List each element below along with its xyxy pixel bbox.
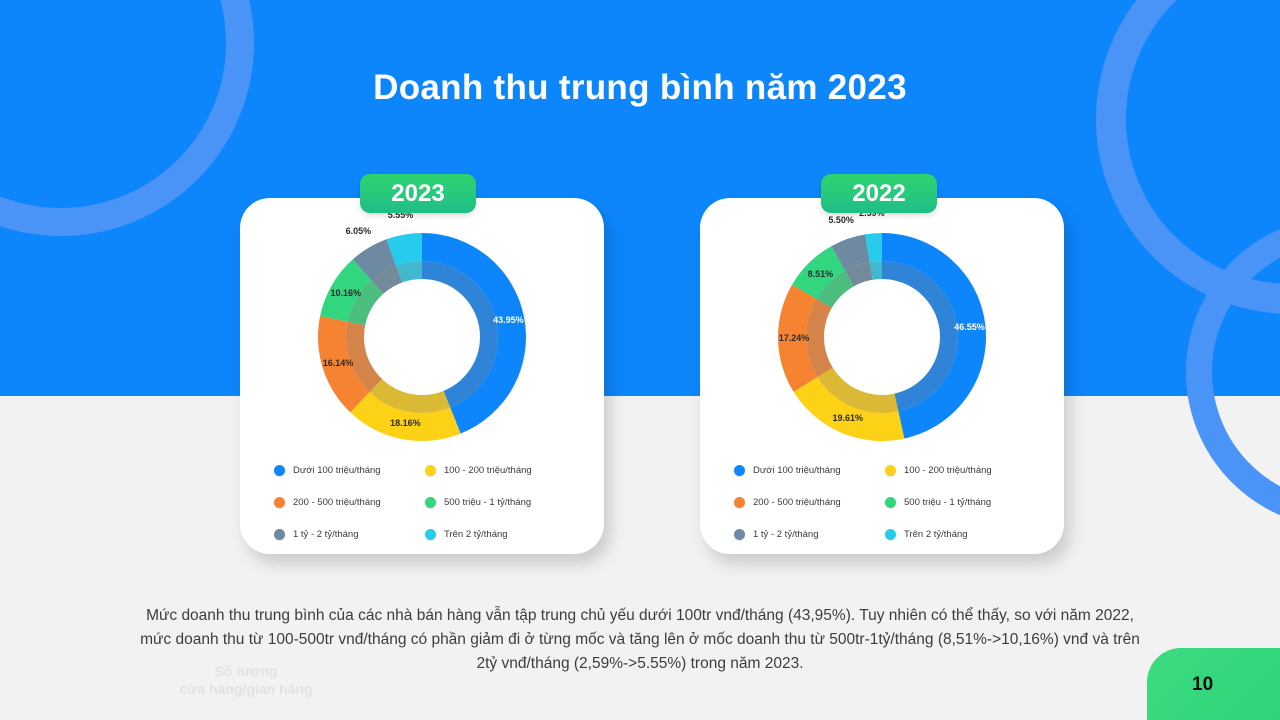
legend-color-dot <box>274 529 285 540</box>
legend-item-label: 500 triệu - 1 tỷ/tháng <box>904 497 991 508</box>
legend-item[interactable]: Trên 2 tỷ/tháng <box>885 518 1030 550</box>
legend-item-label: Trên 2 tỷ/tháng <box>444 529 508 540</box>
donut-slice-label: 6.05% <box>346 226 372 236</box>
legend-item-label: Dưới 100 triệu/tháng <box>753 465 841 476</box>
donut-slice-label: 19.61% <box>833 413 864 423</box>
legend-color-dot <box>274 465 285 476</box>
donut-slice-label: 8.51% <box>808 269 834 279</box>
legend-item-label: 100 - 200 triệu/tháng <box>444 465 532 476</box>
donut-slice-label: 5.50% <box>828 215 854 225</box>
legend-color-dot <box>425 465 436 476</box>
legend-color-dot <box>734 529 745 540</box>
page-number-shape <box>1147 648 1280 720</box>
chart-card-2022: 46.55%19.61%17.24%8.51%5.50%2.59% Dưới 1… <box>700 198 1064 554</box>
watermark-line-2: cửa hàng/gian hàng <box>146 680 346 698</box>
donut-graphic-2023: 43.95%18.16%16.14%10.16%6.05%5.55% <box>314 229 530 445</box>
legend-color-dot <box>885 465 896 476</box>
donut-svg <box>314 229 530 445</box>
donut-slice-label: 10.16% <box>330 288 361 298</box>
page-number: 10 <box>1192 674 1213 696</box>
legend-item[interactable]: 200 - 500 triệu/tháng <box>734 486 879 518</box>
legend-color-dot <box>734 497 745 508</box>
legend-color-dot <box>734 465 745 476</box>
legend-item-label: 500 triệu - 1 tỷ/tháng <box>444 497 531 508</box>
legend-color-dot <box>425 497 436 508</box>
legend-item[interactable]: Trên 2 tỷ/tháng <box>425 518 570 550</box>
legend-color-dot <box>885 529 896 540</box>
legend-item[interactable]: 500 triệu - 1 tỷ/tháng <box>425 486 570 518</box>
legend-color-dot <box>425 529 436 540</box>
legend-item[interactable]: 200 - 500 triệu/tháng <box>274 486 419 518</box>
legend-item-label: Dưới 100 triệu/tháng <box>293 465 381 476</box>
year-badge-2022: 2022 <box>821 174 937 213</box>
legend-item-label: 200 - 500 triệu/tháng <box>293 497 381 508</box>
donut-slice-label: 18.16% <box>390 418 421 428</box>
legend-item-label: 1 tỷ - 2 tỷ/tháng <box>753 529 818 540</box>
watermark-line-1: Số lượng <box>146 662 346 680</box>
page-title: Doanh thu trung bình năm 2023 <box>0 68 1280 108</box>
donut-chart-2022: 46.55%19.61%17.24%8.51%5.50%2.59% <box>700 212 1064 462</box>
year-badge-2023: 2023 <box>360 174 476 213</box>
legend-item-label: 1 tỷ - 2 tỷ/tháng <box>293 529 358 540</box>
legend-item-label: 200 - 500 triệu/tháng <box>753 497 841 508</box>
donut-graphic-2022: 46.55%19.61%17.24%8.51%5.50%2.59% <box>774 229 990 445</box>
donut-slice-label: 46.55% <box>954 322 985 332</box>
legend-item[interactable]: 100 - 200 triệu/tháng <box>885 454 1030 486</box>
legend-color-dot <box>274 497 285 508</box>
legend-item[interactable]: 500 triệu - 1 tỷ/tháng <box>885 486 1030 518</box>
blue-background-band <box>0 0 1280 396</box>
legend-item[interactable]: 1 tỷ - 2 tỷ/tháng <box>734 518 879 550</box>
legend-item[interactable]: Dưới 100 triệu/tháng <box>734 454 879 486</box>
donut-chart-2023: 43.95%18.16%16.14%10.16%6.05%5.55% <box>240 212 604 462</box>
legend-color-dot <box>885 497 896 508</box>
donut-slice-label: 17.24% <box>779 333 810 343</box>
slide-canvas: Doanh thu trung bình năm 2023 2023 43.95… <box>0 0 1280 720</box>
chart-card-2023: 43.95%18.16%16.14%10.16%6.05%5.55% Dưới … <box>240 198 604 554</box>
legend-item[interactable]: 100 - 200 triệu/tháng <box>425 454 570 486</box>
legend-item[interactable]: Dưới 100 triệu/tháng <box>274 454 419 486</box>
legend-item-label: 100 - 200 triệu/tháng <box>904 465 992 476</box>
donut-slice-label: 16.14% <box>323 358 354 368</box>
donut-slice-label: 43.95% <box>493 315 524 325</box>
legend-item-label: Trên 2 tỷ/tháng <box>904 529 968 540</box>
chart-legend-2022: Dưới 100 triệu/tháng100 - 200 triệu/thán… <box>700 454 1064 550</box>
watermark-text: Số lượng cửa hàng/gian hàng <box>146 662 346 698</box>
legend-item[interactable]: 1 tỷ - 2 tỷ/tháng <box>274 518 419 550</box>
chart-legend-2023: Dưới 100 triệu/tháng100 - 200 triệu/thán… <box>240 454 604 550</box>
